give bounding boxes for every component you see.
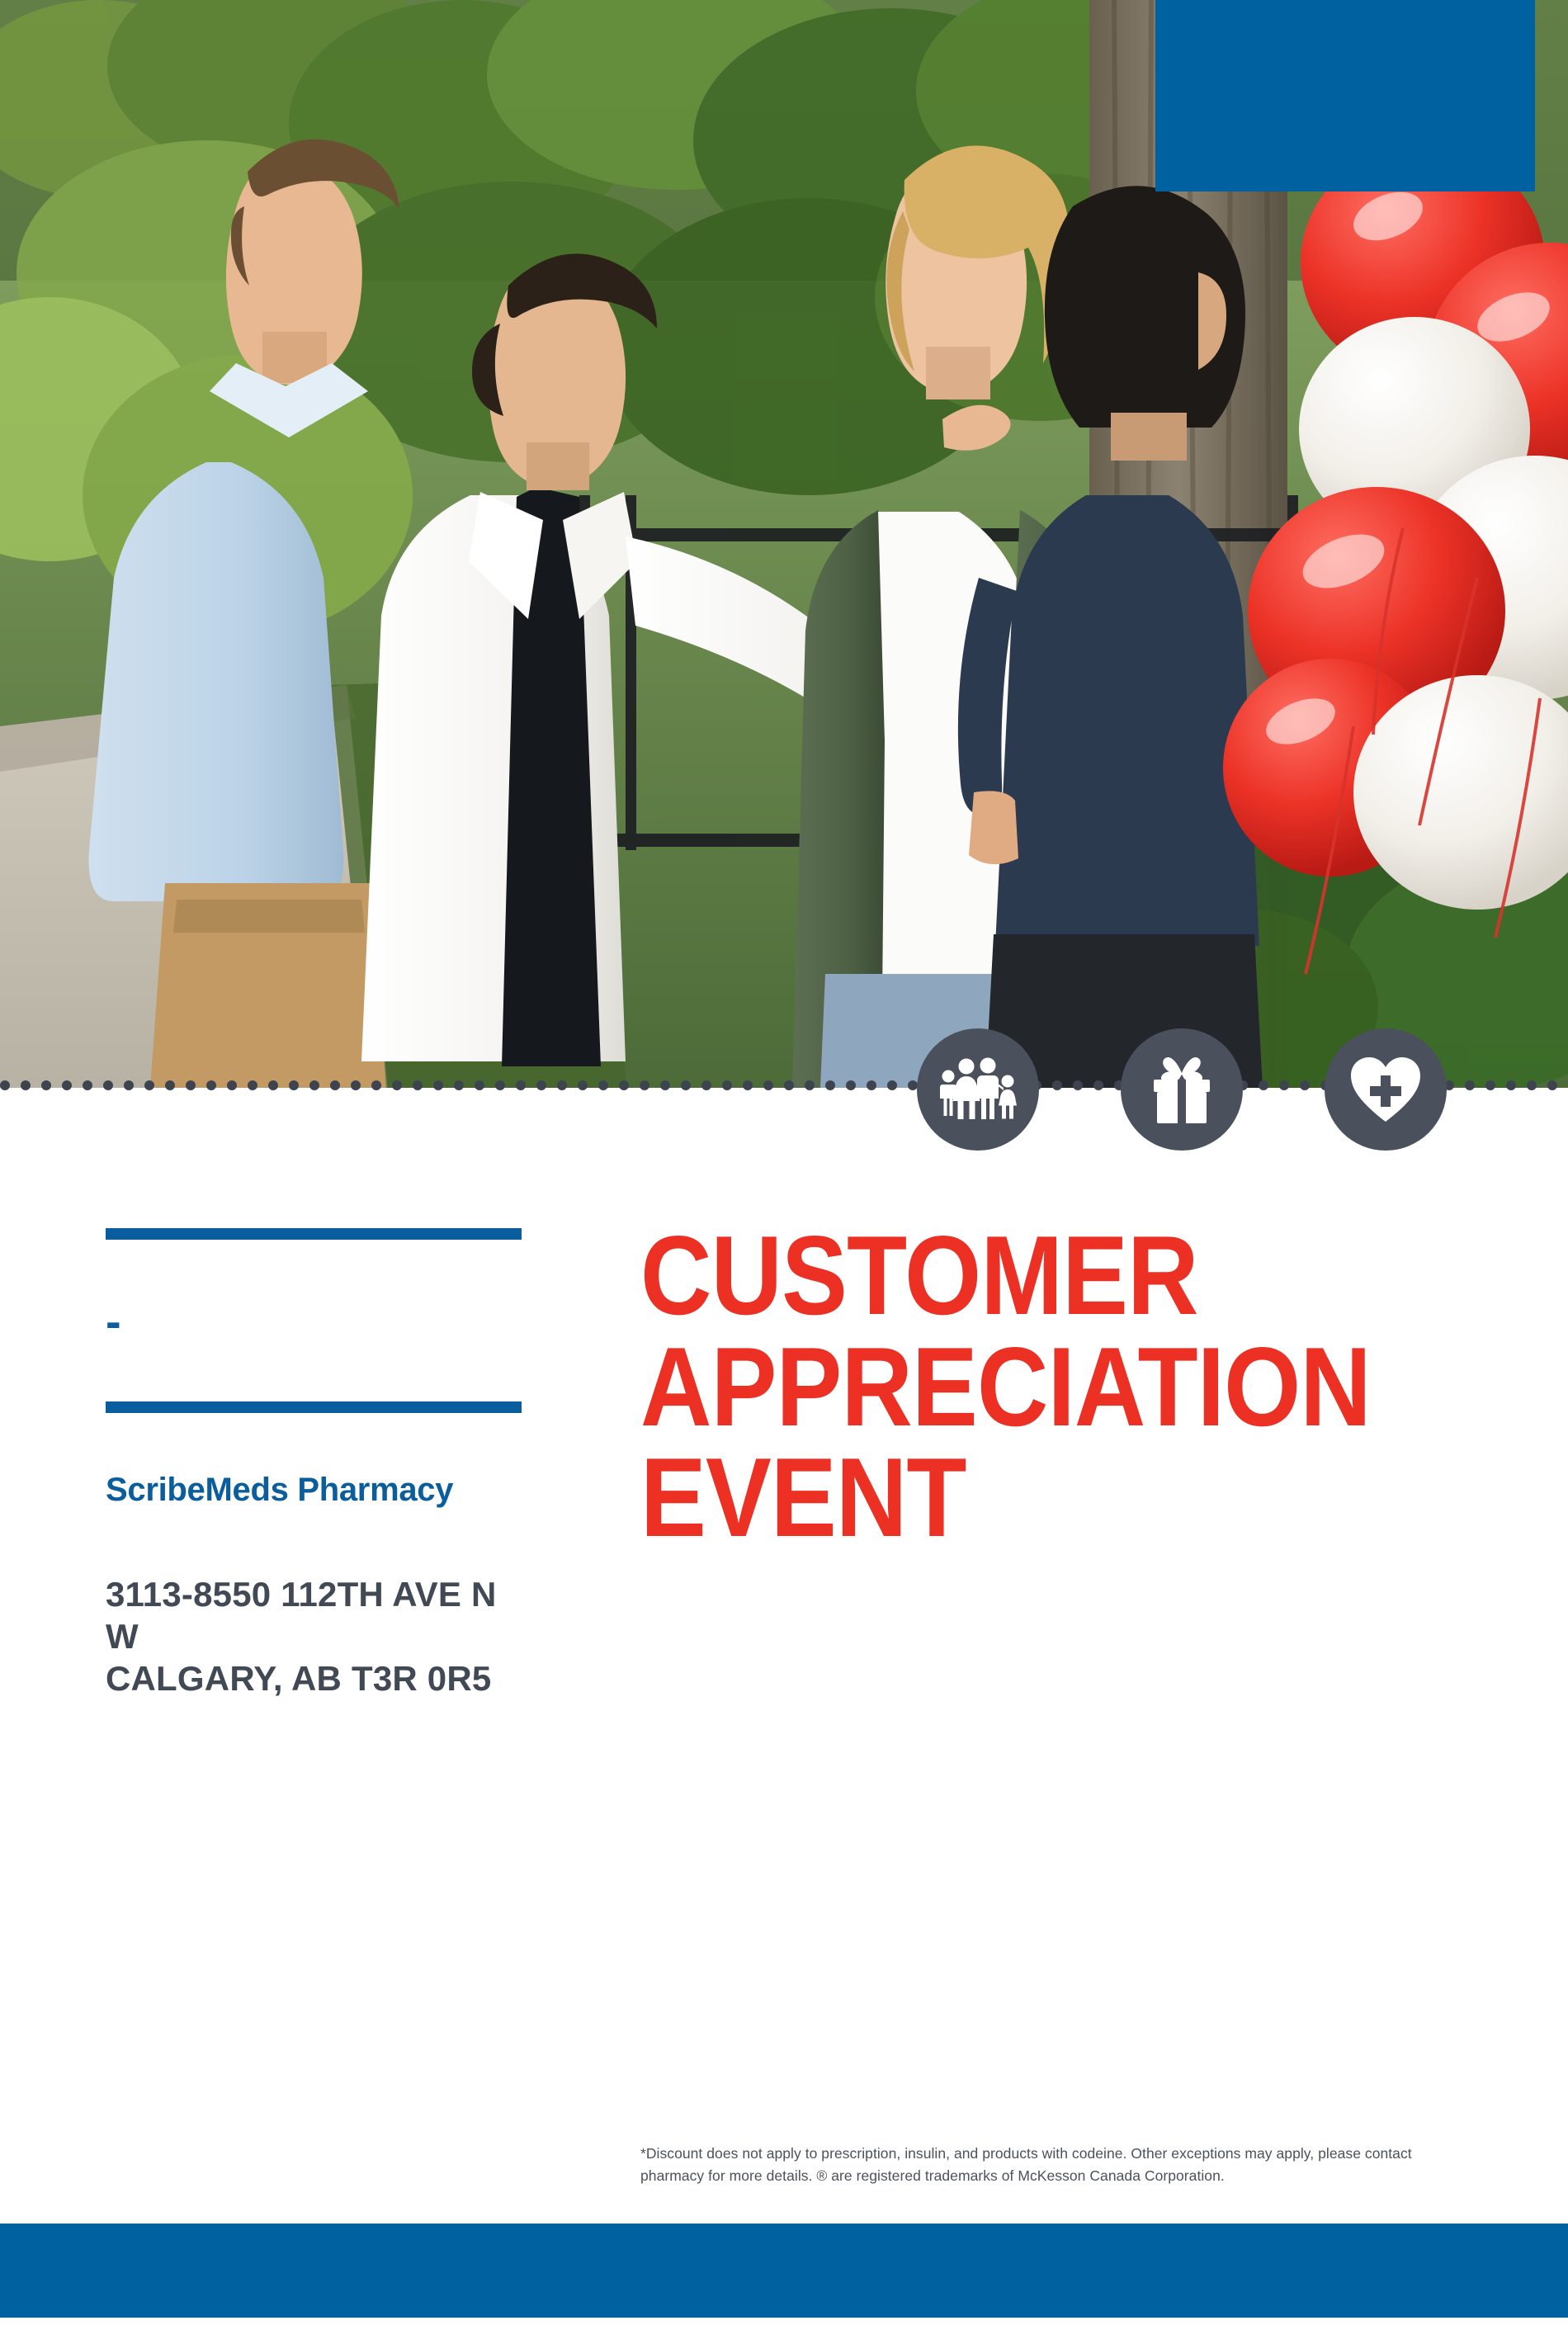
headline-line-1: CUSTOMER [640, 1220, 1410, 1331]
event-headline: CUSTOMER APPRECIATION EVENT [640, 1220, 1410, 1553]
rule-gap: - [106, 1240, 527, 1401]
disclaimer-text: *Discount does not apply to prescription… [640, 2143, 1449, 2187]
store-divider-dash: - [106, 1316, 121, 1327]
ida-logo-block: R [1155, 0, 1535, 191]
store-address: 3113-8550 112TH AVE N W CALGARY, AB T3R … [106, 1573, 527, 1700]
footer-bar [0, 2224, 1568, 2318]
address-line-2: CALGARY, AB T3R 0R5 [106, 1657, 527, 1699]
rule-bottom [106, 1401, 522, 1413]
rule-top [106, 1228, 522, 1240]
family-icon [917, 1028, 1039, 1151]
headline-line-3: EVENT [640, 1442, 1410, 1553]
store-name: ScribeMeds Pharmacy [106, 1472, 527, 1507]
store-info-column: - ScribeMeds Pharmacy 3113-8550 112TH AV… [106, 1228, 527, 1700]
heart-plus-icon [1325, 1028, 1447, 1151]
headline-line-2: APPRECIATION [640, 1331, 1410, 1443]
gift-icon [1121, 1028, 1243, 1151]
address-line-1: 3113-8550 112TH AVE N W [106, 1573, 527, 1657]
